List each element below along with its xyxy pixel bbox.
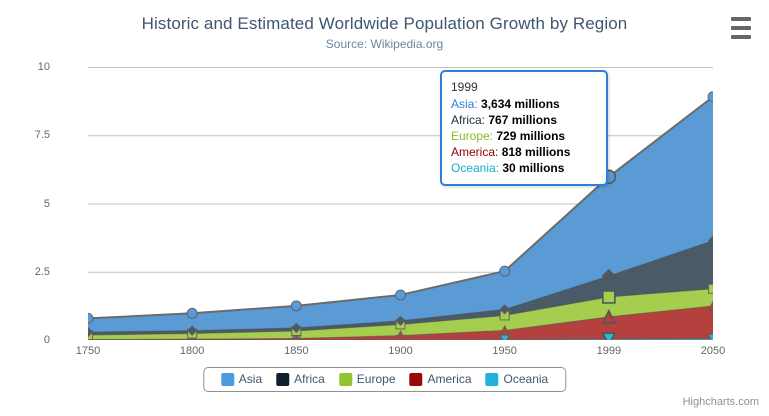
tooltip-series-value: 3,634 millions — [481, 97, 560, 111]
hamburger-bar — [731, 26, 751, 30]
data-point-asia-1800[interactable] — [187, 308, 197, 318]
y-axis-tick-label: 7.5 — [0, 129, 50, 141]
tooltip-rows: Asia: 3,634 millionsAfrica: 767 millions… — [451, 96, 597, 176]
hamburger-bar — [731, 17, 751, 21]
x-axis-tick-label: 1800 — [180, 345, 204, 357]
data-point-asia-1950[interactable] — [500, 266, 510, 276]
legend-swatch-asia — [221, 373, 234, 386]
legend-item-africa[interactable]: Africa — [276, 372, 325, 386]
data-point-asia-1850[interactable] — [291, 301, 301, 311]
x-axis-tick-label: 1999 — [597, 345, 621, 357]
legend-item-oceania[interactable]: Oceania — [486, 372, 549, 386]
tooltip-series-name: Africa: — [451, 113, 488, 127]
data-point-europe-2050[interactable] — [709, 284, 714, 293]
legend-label: Oceania — [504, 372, 549, 386]
legend-label: Africa — [294, 372, 325, 386]
legend-swatch-america — [410, 373, 423, 386]
legend-item-america[interactable]: America — [410, 372, 472, 386]
tooltip-header: 1999 — [451, 79, 597, 95]
legend-label: Europe — [357, 372, 396, 386]
chart-legend[interactable]: AsiaAfricaEuropeAmericaOceania — [203, 367, 566, 392]
tooltip: 1999 Asia: 3,634 millionsAfrica: 767 mil… — [440, 70, 608, 186]
x-axis-tick-label: 1850 — [284, 345, 308, 357]
legend-swatch-oceania — [486, 373, 499, 386]
legend-item-asia[interactable]: Asia — [221, 372, 262, 386]
tooltip-series-name: Asia: — [451, 97, 481, 111]
x-axis-tick-label: 1900 — [388, 345, 412, 357]
y-axis-tick-label: 5 — [0, 198, 50, 210]
chart-subtitle: Source: Wikipedia.org — [0, 37, 769, 51]
tooltip-series-name: America: — [451, 145, 502, 159]
plot-area — [88, 67, 713, 340]
tooltip-series-value: 818 millions — [502, 145, 571, 159]
y-axis-tick-label: 10 — [0, 61, 50, 73]
tooltip-series-name: Europe: — [451, 129, 496, 143]
area-chart-svg — [88, 67, 713, 340]
legend-swatch-africa — [276, 373, 289, 386]
x-axis-tick-label: 1750 — [76, 345, 100, 357]
highcharts-container: Historic and Estimated Worldwide Populat… — [0, 0, 769, 416]
hamburger-menu-icon[interactable] — [729, 17, 753, 39]
legend-label: America — [428, 372, 472, 386]
y-axis-tick-label: 2.5 — [0, 266, 50, 278]
tooltip-series-value: 30 millions — [502, 161, 564, 175]
y-axis-tick-label: 0 — [0, 334, 50, 346]
x-axis-tick-label: 1950 — [492, 345, 516, 357]
legend-swatch-europe — [339, 373, 352, 386]
tooltip-row-asia: Asia: 3,634 millions — [451, 96, 597, 112]
data-point-asia-1900[interactable] — [396, 290, 406, 300]
credits-label[interactable]: Highcharts.com — [683, 396, 759, 408]
tooltip-row-africa: Africa: 767 millions — [451, 112, 597, 128]
tooltip-series-value: 729 millions — [496, 129, 565, 143]
legend-item-europe[interactable]: Europe — [339, 372, 396, 386]
tooltip-series-name: Oceania: — [451, 161, 502, 175]
x-axis-tick-label: 2050 — [701, 345, 725, 357]
hamburger-bar — [731, 35, 751, 39]
tooltip-series-value: 767 millions — [488, 113, 557, 127]
legend-label: Asia — [239, 372, 262, 386]
tooltip-row-america: America: 818 millions — [451, 144, 597, 160]
tooltip-row-europe: Europe: 729 millions — [451, 128, 597, 144]
chart-title: Historic and Estimated Worldwide Populat… — [0, 14, 769, 34]
tooltip-row-oceania: Oceania: 30 millions — [451, 160, 597, 176]
